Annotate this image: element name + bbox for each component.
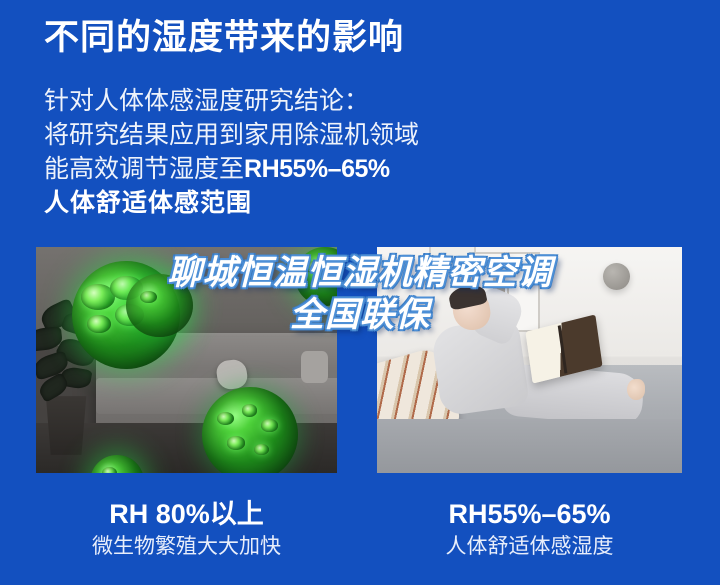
caption-title: RH55%–65% (377, 498, 682, 530)
wall-speaker-icon (603, 263, 630, 290)
caption-subtitle: 人体舒适体感湿度 (377, 534, 682, 560)
intro-line-3: 能高效调节湿度至RH55%–65% (44, 152, 419, 186)
intro-paragraph: 针对人体体感湿度研究结论： 将研究结果应用到家用除湿机领域 能高效调节湿度至RH… (44, 84, 419, 220)
intro-line-4: 人体舒适体感范围 (44, 186, 419, 220)
person-foot (627, 379, 645, 400)
caption-high-humidity: RH 80%以上 微生物繁殖大大加快 (36, 498, 337, 560)
intro-line-1: 针对人体体感湿度研究结论： (44, 84, 419, 118)
intro-line-2: 将研究结果应用到家用除湿机领域 (44, 118, 419, 152)
light-room-illustration (377, 247, 682, 473)
dark-cushion-secondary (301, 351, 328, 383)
microbe-cluster-icon (126, 274, 192, 337)
panel-image-comfort-humidity (377, 247, 682, 473)
page-title: 不同的湿度带来的影响 (44, 17, 404, 59)
microbe-cluster-icon (202, 387, 298, 473)
panel-image-high-humidity (36, 247, 337, 473)
caption-subtitle: 微生物繁殖大大加快 (36, 534, 337, 560)
intro-line-3-value: RH55%–65% (244, 155, 390, 183)
dark-room-illustration (36, 247, 337, 473)
caption-title: RH 80%以上 (36, 498, 337, 530)
caption-comfort-humidity: RH55%–65% 人体舒适体感湿度 (377, 498, 682, 560)
humidity-poster: 不同的湿度带来的影响 针对人体体感湿度研究结论： 将研究结果应用到家用除湿机领域… (0, 0, 720, 585)
intro-line-3-prefix: 能高效调节湿度至 (44, 155, 244, 183)
light-sofa-seat (377, 419, 682, 473)
